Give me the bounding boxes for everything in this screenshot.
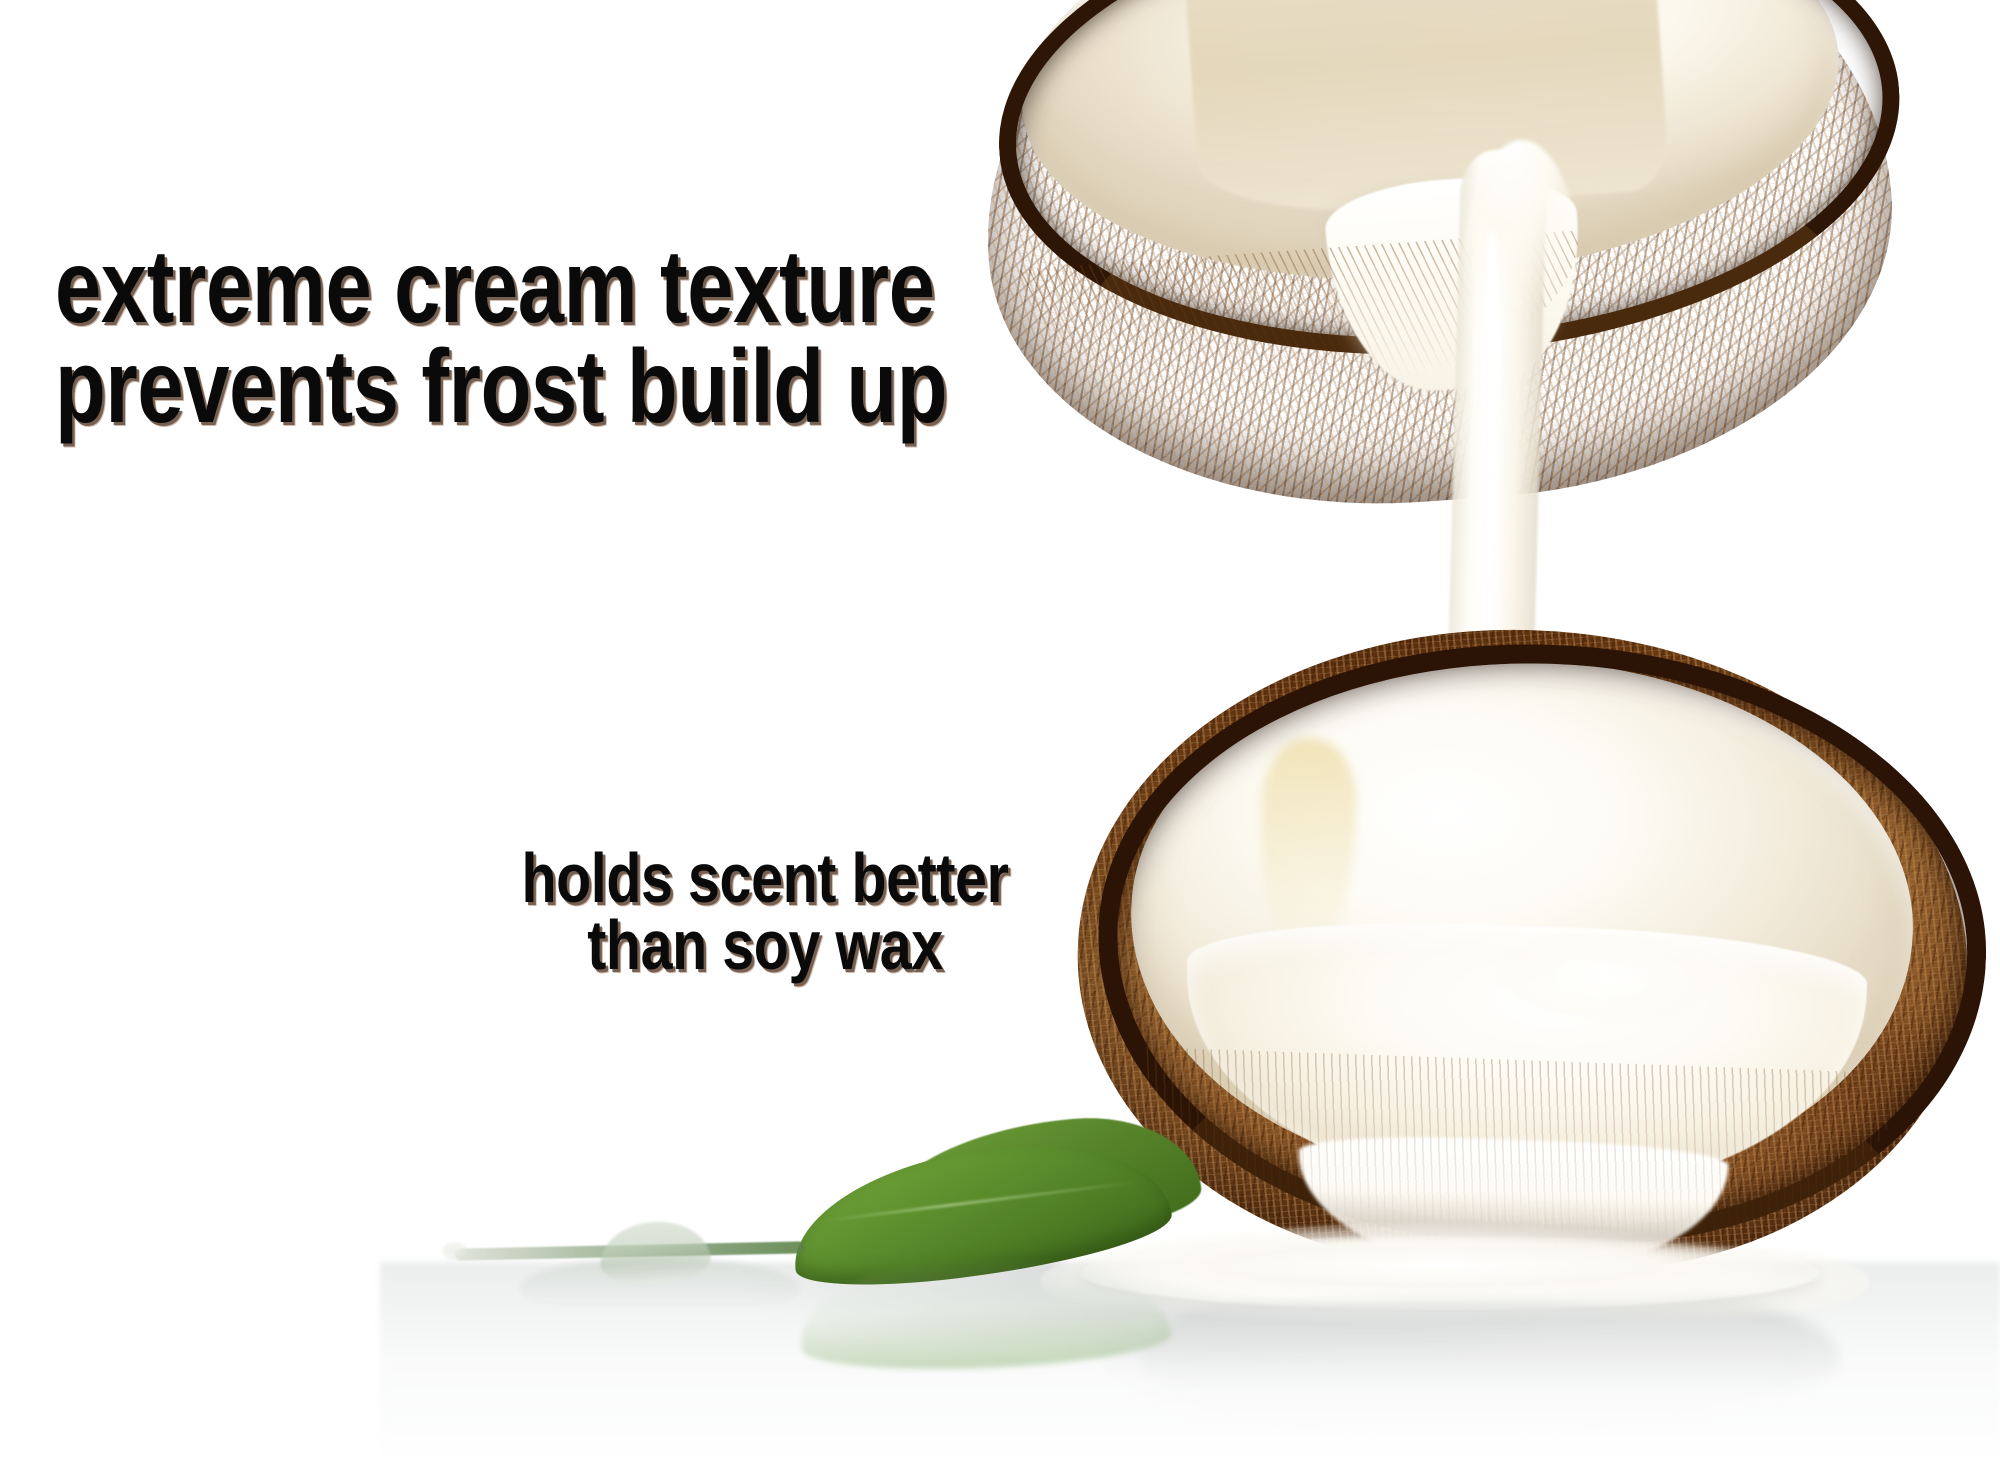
primary-caption: extreme cream texture prevents frost bui… xyxy=(55,238,947,438)
coconut-bottom-half xyxy=(1067,615,1979,1286)
milk-puddle-edge xyxy=(1080,1236,1820,1310)
secondary-caption-line-2: than soy wax xyxy=(521,912,1008,979)
coconut-top-half xyxy=(964,0,1910,531)
secondary-caption: holds scent better than soy wax xyxy=(468,845,1062,979)
meme-canvas: extreme cream texture prevents frost bui… xyxy=(0,0,2000,1466)
primary-caption-line-1: extreme cream texture xyxy=(55,238,947,338)
secondary-caption-line-1: holds scent better xyxy=(521,845,1008,912)
coconut-photo xyxy=(0,0,2000,1466)
primary-caption-line-2: prevents frost build up xyxy=(55,338,947,438)
leaf-stem-tip xyxy=(442,1242,468,1260)
